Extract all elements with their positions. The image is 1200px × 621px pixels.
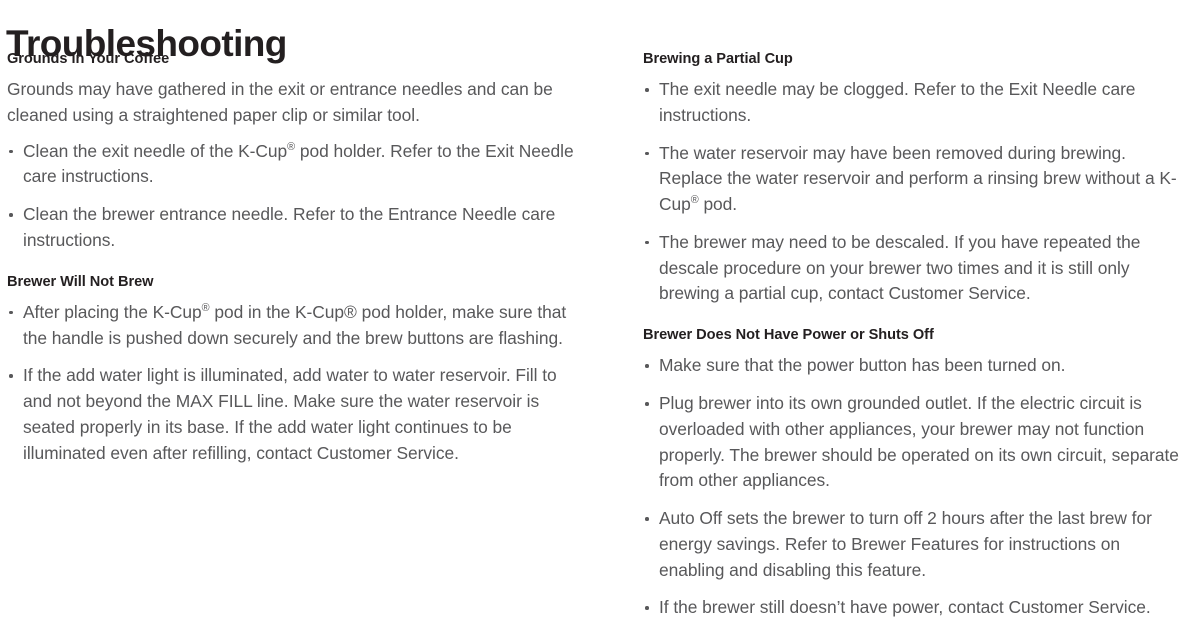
section-paragraph: Grounds may have gathered in the exit or…	[7, 77, 577, 129]
bullet-dot-icon	[9, 150, 13, 154]
bullet-dot-icon	[9, 213, 13, 217]
list-item-text-pre: Auto Off sets the brewer to turn off 2 h…	[659, 508, 1152, 580]
list-item-text-post: pod.	[699, 194, 737, 214]
registered-mark-icon: ®	[287, 141, 295, 153]
list-item: If the add water light is illuminated, a…	[7, 363, 577, 466]
list-item-text-pre: After placing the K-Cup	[23, 302, 202, 322]
list-item: The water reservoir may have been remove…	[643, 141, 1190, 218]
list-item: The brewer may need to be descaled. If y…	[643, 230, 1190, 307]
section-brewer-does-not-have-power: Brewer Does Not Have Power or Shuts Off …	[643, 326, 1190, 621]
list-item-text-pre: Clean the brewer entrance needle. Refer …	[23, 204, 555, 250]
left-column: Grounds in Your Coffee Grounds may have …	[0, 50, 612, 466]
section-heading: Brewer Does Not Have Power or Shuts Off	[643, 326, 1190, 344]
bullet-dot-icon	[645, 152, 649, 156]
list-item: Auto Off sets the brewer to turn off 2 h…	[643, 506, 1190, 583]
section-heading: Grounds in Your Coffee	[7, 50, 577, 68]
bullet-dot-icon	[9, 374, 13, 378]
bullet-dot-icon	[645, 402, 649, 406]
list-item-text-pre: The brewer may need to be descaled. If y…	[659, 232, 1140, 304]
list-item: If the brewer still doesn’t have power, …	[643, 595, 1190, 621]
list-item: The exit needle may be clogged. Refer to…	[643, 77, 1190, 129]
bullet-list: Make sure that the power button has been…	[643, 353, 1190, 621]
registered-mark-icon: ®	[202, 302, 210, 314]
bullet-dot-icon	[645, 364, 649, 368]
registered-mark-icon: ®	[691, 194, 699, 206]
list-item: Plug brewer into its own grounded outlet…	[643, 391, 1190, 494]
list-item-text-pre: Plug brewer into its own grounded outlet…	[659, 393, 1179, 490]
bullet-dot-icon	[645, 606, 649, 610]
troubleshooting-page: Troubleshooting Grounds in Your Coffee G…	[0, 0, 1200, 613]
bullet-dot-icon	[645, 88, 649, 92]
section-heading: Brewing a Partial Cup	[643, 50, 1190, 68]
bullet-dot-icon	[645, 517, 649, 521]
bullet-list: Clean the exit needle of the K-Cup® pod …	[7, 139, 577, 254]
list-item-text-pre: Make sure that the power button has been…	[659, 355, 1065, 375]
section-heading: Brewer Will Not Brew	[7, 273, 577, 291]
bullet-list: After placing the K-Cup® pod in the K-Cu…	[7, 300, 577, 467]
bullet-list: The exit needle may be clogged. Refer to…	[643, 77, 1190, 307]
bullet-dot-icon	[645, 241, 649, 245]
list-item-text-pre: The exit needle may be clogged. Refer to…	[659, 79, 1135, 125]
bullet-dot-icon	[9, 311, 13, 315]
list-item: Clean the exit needle of the K-Cup® pod …	[7, 139, 577, 191]
list-item-text-pre: If the add water light is illuminated, a…	[23, 365, 557, 462]
list-item-text-pre: Clean the exit needle of the K-Cup	[23, 141, 287, 161]
list-item-text-pre: If the brewer still doesn’t have power, …	[659, 597, 1151, 617]
section-brewing-a-partial-cup: Brewing a Partial Cup The exit needle ma…	[643, 50, 1190, 307]
right-column: Brewing a Partial Cup The exit needle ma…	[612, 50, 1200, 621]
list-item: After placing the K-Cup® pod in the K-Cu…	[7, 300, 577, 352]
list-item: Make sure that the power button has been…	[643, 353, 1190, 379]
section-brewer-will-not-brew: Brewer Will Not Brew After placing the K…	[7, 273, 577, 467]
section-grounds-in-your-coffee: Grounds in Your Coffee Grounds may have …	[7, 50, 577, 254]
list-item: Clean the brewer entrance needle. Refer …	[7, 202, 577, 254]
two-column-body: Grounds in Your Coffee Grounds may have …	[0, 50, 1200, 621]
